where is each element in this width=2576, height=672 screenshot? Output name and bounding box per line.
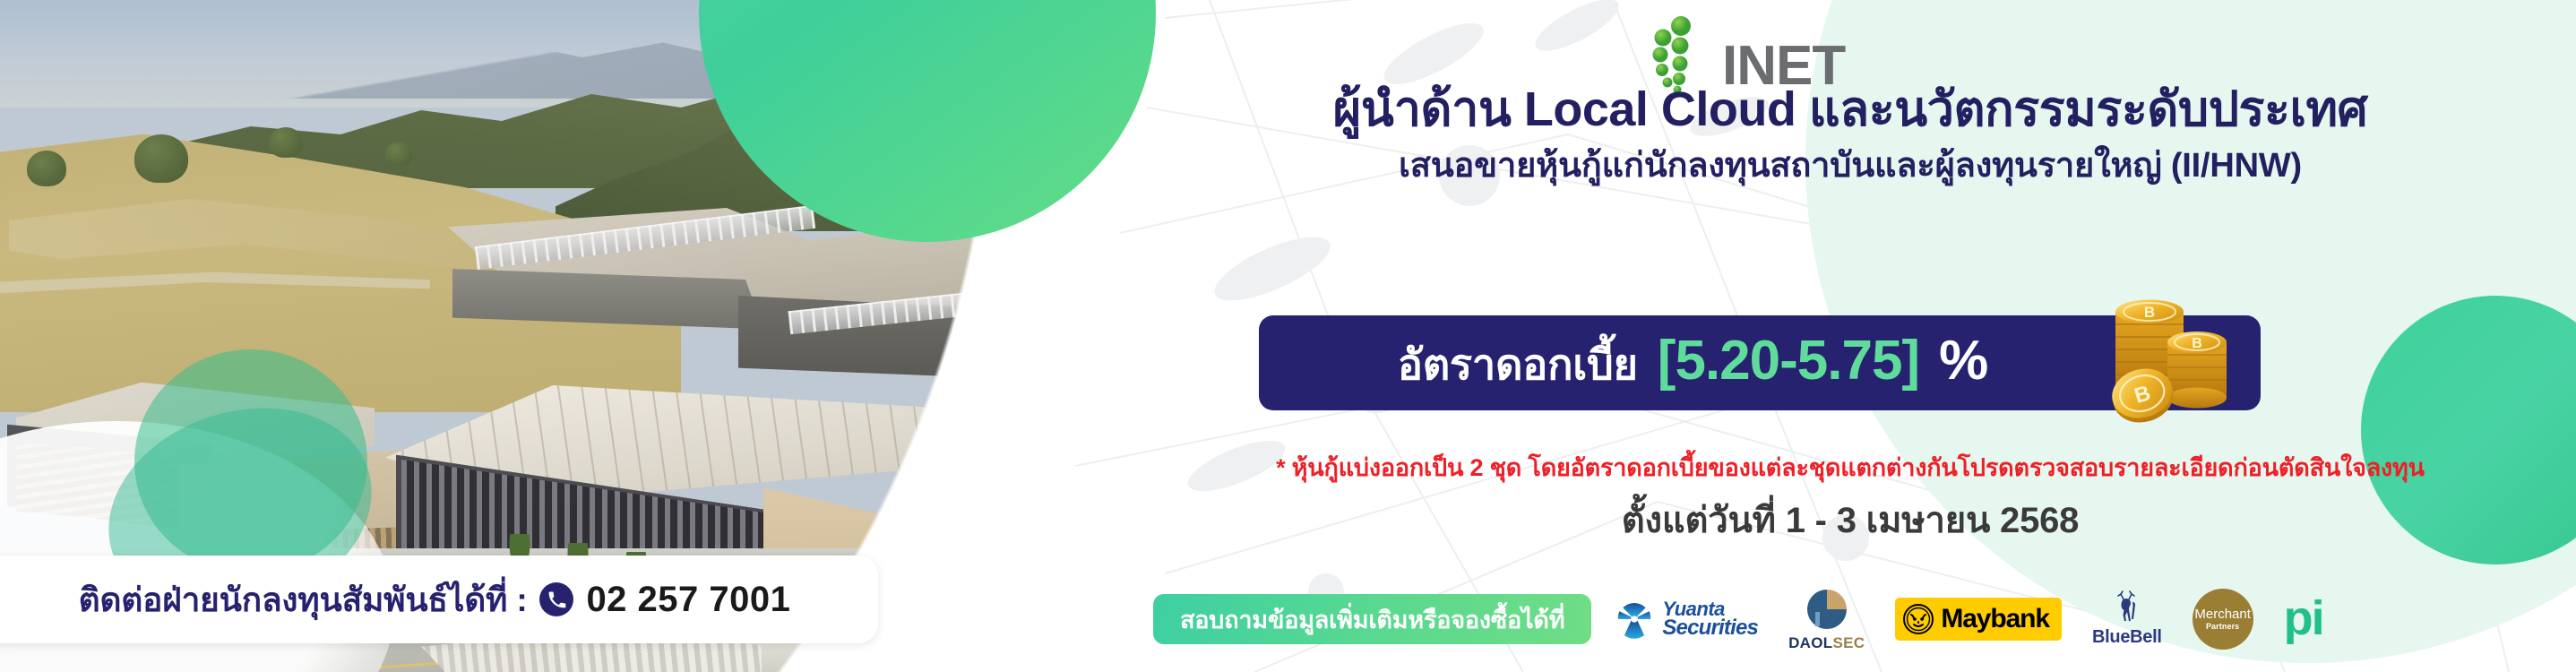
content-panel: INET ผู้นำด้าน Local Cloud และนวัตกรรมระ…	[1124, 0, 2576, 672]
daol-name-main: DAOL	[1788, 634, 1832, 651]
merchant-name-line2: Partners	[2206, 623, 2239, 631]
contact-label: ติดต่อฝ่ายนักลงทุนสัมพันธ์ได้ที่ :	[79, 573, 528, 626]
page-subtitle: เสนอขายหุ้นกู้แก่นักลงทุนสถาบันและผู้ลงท…	[1124, 146, 2576, 187]
svg-text:B: B	[2192, 336, 2202, 351]
page-title: ผู้นำด้าน Local Cloud และนวัตกรรมระดับปร…	[1124, 82, 2576, 136]
contact-phone-number: 02 257 7001	[586, 580, 790, 620]
photo-tree	[134, 134, 188, 183]
daol-circle-icon	[1805, 587, 1849, 632]
merchant-name-line1: Merchant	[2194, 607, 2251, 621]
broker-logo-pi[interactable]: pi	[2284, 599, 2323, 638]
offering-dates: ตั้งแต่วันที่ 1 - 3 เมษายน 2568	[1124, 491, 2576, 548]
interest-rate-percent: %	[1939, 329, 1987, 392]
broker-logo-daolsec[interactable]: DAOLSEC	[1788, 587, 1865, 652]
inet-debenture-banner: ติดต่อฝ่ายนักลงทุนสัมพันธ์ได้ที่ : 02 25…	[0, 0, 2576, 672]
footnote-text: * หุ้นกู้แบ่งออกเป็น 2 ชุด โดยอัตราดอกเบ…	[1124, 448, 2576, 487]
svg-text:B: B	[2144, 304, 2155, 321]
bluebell-deer-icon	[2111, 590, 2143, 626]
broker-logo-maybank[interactable]: Maybank	[1895, 598, 2062, 641]
broker-logo-bluebell[interactable]: BlueBell	[2092, 590, 2162, 648]
interest-rate-value: [5.20-5.75]	[1658, 329, 1919, 392]
yuanta-name-line2: Securities	[1662, 618, 1758, 638]
broker-logo-merchant-partners[interactable]: Merchant Partners	[2193, 589, 2253, 650]
investor-relations-contact-card: ติดต่อฝ่ายนักลงทุนสัมพันธ์ได้ที่ : 02 25…	[0, 556, 878, 643]
photo-tree	[269, 127, 303, 158]
interest-rate-label: อัตราดอกเบี้ย	[1398, 331, 1638, 398]
yuanta-star-icon	[1615, 599, 1654, 639]
photo-tree	[27, 151, 66, 186]
daol-name-sub: SEC	[1832, 634, 1865, 651]
photo-tree	[385, 142, 412, 167]
bluebell-name: BlueBell	[2092, 627, 2162, 648]
cta-and-brokers-row: สอบถามข้อมูลเพิ่มเติมหรือจองซื้อได้ที่	[1124, 581, 2576, 658]
phone-icon	[539, 582, 573, 616]
broker-logos: Yuanta Securities DAOLSEC	[1615, 587, 2322, 652]
interest-rate-box: อัตราดอกเบี้ย [5.20-5.75] %	[1259, 315, 2261, 410]
inquiry-button[interactable]: สอบถามข้อมูลเพิ่มเติมหรือจองซื้อได้ที่	[1153, 594, 1591, 644]
pi-wordmark: pi	[2284, 599, 2323, 638]
broker-logo-yuanta[interactable]: Yuanta Securities	[1615, 599, 1758, 639]
gold-coins-icon: B B B	[2083, 289, 2244, 432]
maybank-name: Maybank	[1941, 604, 2049, 634]
maybank-tiger-icon	[1903, 604, 1934, 634]
